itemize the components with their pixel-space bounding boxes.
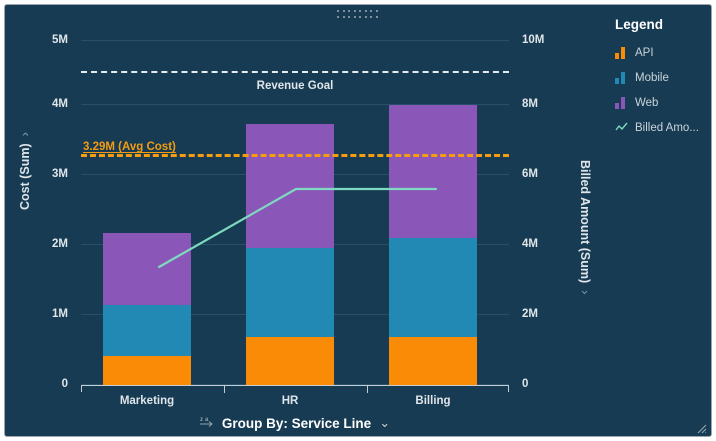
bar-swatch-icon [615, 46, 628, 59]
y-axis-title[interactable]: Cost (Sum)› [17, 132, 32, 210]
y-axis-tick-label: 4M [52, 98, 68, 110]
y-axis-tick-label: 2M [52, 238, 68, 250]
legend-item-mobile[interactable]: Mobile [615, 71, 707, 84]
bar-swatch-icon [615, 71, 628, 84]
reference-line-revenue-goal[interactable] [81, 71, 509, 73]
legend-item-api[interactable]: API [615, 46, 707, 59]
y-axis-tick-label: 1M [52, 308, 68, 320]
legend-item-billed-amount[interactable]: Billed Amo... [615, 121, 707, 134]
legend-title: Legend [615, 17, 707, 32]
y-axis-tick-label: 3M [52, 168, 68, 180]
y2-axis-tick-label: 6M [522, 168, 538, 180]
chevron-right-icon[interactable]: › [578, 290, 593, 294]
group-by-label: Group By: Service Line [222, 416, 371, 431]
chart-widget: 0 1M 2M 3M 4M 5M 0 2M 4M 6M 8M 10M [4, 4, 712, 437]
reference-line-label-avg-cost: 3.29M (Avg Cost) [83, 141, 176, 153]
legend: Legend API Mobile Web Bil [615, 17, 707, 146]
y2-axis-tick-label: 8M [522, 98, 538, 110]
group-by-control[interactable]: z a Group By: Service Line ⌄ [81, 415, 509, 431]
x-axis-tick-label-hr: HR [282, 395, 299, 407]
drag-dots-icon[interactable] [337, 10, 379, 19]
legend-item-web[interactable]: Web [615, 96, 707, 109]
y-axis-title-label: Cost (Sum) [18, 143, 32, 210]
reference-line-label-revenue-goal: Revenue Goal [81, 80, 509, 92]
legend-item-label: Billed Amo... [635, 122, 699, 134]
svg-text:a: a [205, 417, 209, 423]
x-axis-tick-label-billing: Billing [415, 395, 450, 407]
bar-swatch-icon [615, 96, 628, 109]
chevron-right-icon[interactable]: › [17, 132, 32, 136]
y2-axis-tick-label: 0 [522, 378, 528, 390]
sort-ascending-icon[interactable]: z a [200, 415, 214, 429]
y2-axis-tick-label: 10M [522, 34, 544, 46]
y-axis-tick-label: 5M [52, 34, 68, 46]
legend-item-label: Mobile [635, 72, 669, 84]
line-swatch-icon [615, 121, 628, 134]
resize-grip-icon[interactable] [696, 421, 707, 432]
y2-axis-tick-label: 2M [522, 308, 538, 320]
x-axis-tick-label-marketing: Marketing [120, 395, 174, 407]
y2-axis-tick-label: 4M [522, 238, 538, 250]
plot-area: 0 1M 2M 3M 4M 5M 0 2M 4M 6M 8M 10M [81, 35, 509, 385]
legend-item-label: API [635, 47, 654, 59]
y-axis-tick-label: 0 [62, 378, 68, 390]
x-axis-line [81, 385, 509, 392]
y2-axis-title[interactable]: Billed Amount (Sum)› [578, 160, 593, 294]
y2-axis-title-label: Billed Amount (Sum) [578, 160, 592, 283]
chevron-down-icon[interactable]: ⌄ [379, 415, 390, 431]
svg-text:z: z [200, 417, 203, 423]
legend-item-label: Web [635, 97, 658, 109]
reference-line-avg-cost[interactable] [81, 154, 509, 157]
